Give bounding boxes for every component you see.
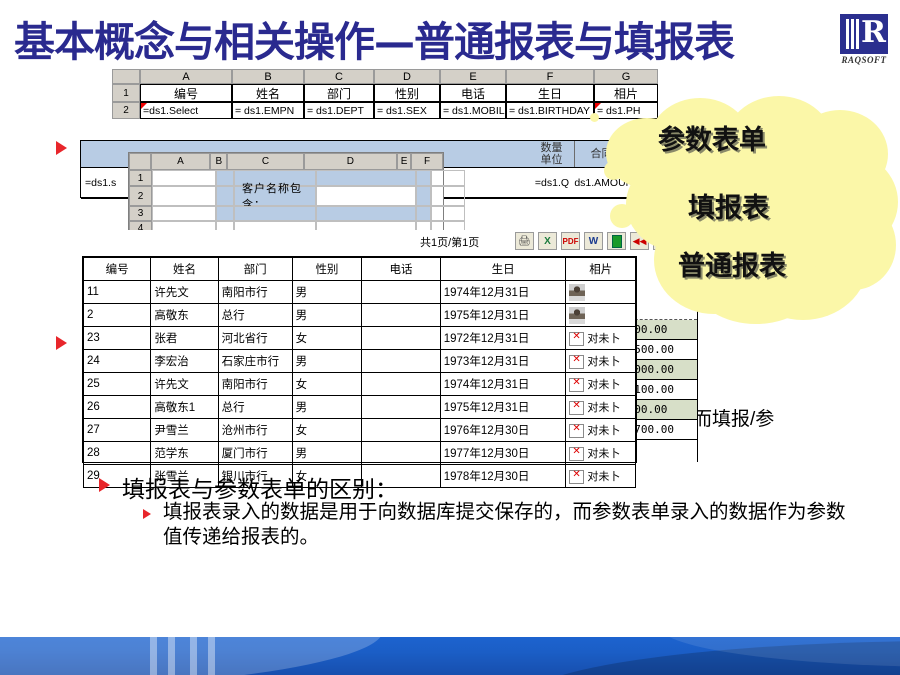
col-header-e[interactable]: E — [440, 69, 506, 84]
result-table-header-row: 编号 姓名 部门 性别 电话 生日 相片 — [84, 258, 636, 281]
designer-header-row: 1 编号 姓名 部门 性别 电话 生日 相片 — [112, 84, 658, 102]
col-phone: 电话 — [362, 258, 441, 281]
param-cell-a2[interactable] — [152, 186, 216, 206]
table-row: 11许先文南阳市行男1974年12月31日 — [84, 281, 636, 304]
cell-name: 张君 — [151, 327, 218, 350]
cell-e2[interactable]: = ds1.MOBIL — [440, 102, 506, 119]
broken-image-label: 对未卜 — [587, 402, 620, 414]
cell-note-flag-icon — [141, 103, 147, 109]
cell-dept: 总行 — [218, 396, 292, 419]
result-table-body: 11许先文南阳市行男1974年12月31日2高敬东总行男1975年12月31日2… — [84, 281, 636, 488]
bullet-marker-2 — [56, 336, 67, 350]
table-row: 26高敬东1总行男1975年12月31日对未卜 — [84, 396, 636, 419]
col-header-b[interactable]: B — [232, 69, 304, 84]
slide-canvas: 基本概念与相关操作—普通报表与填报表 R RAQSOFT A B C D E F… — [0, 0, 900, 675]
parameter-form-designer[interactable]: A B C D E F 1 2 客户名称包含： 3 — [128, 152, 444, 234]
cell-photo: 对未卜 — [566, 350, 636, 373]
report-toolbar: 共1页/第1页 🖨 X PDF W ◀◀ ◀ — [80, 230, 640, 254]
cell-photo: 对未卜 — [566, 327, 636, 350]
footer-stripe-4 — [208, 637, 215, 675]
broken-image-icon — [569, 470, 584, 484]
cell-name: 高敬东1 — [151, 396, 218, 419]
param-col-e[interactable]: E — [397, 153, 411, 170]
bullet-marker-4 — [143, 509, 151, 519]
param-col-b[interactable]: B — [210, 153, 227, 170]
corner-cell — [112, 69, 140, 84]
cell-birthday: 1973年12月31日 — [440, 350, 566, 373]
bullet-marker-3 — [99, 478, 110, 492]
cell-dept: 厦门市行 — [218, 442, 292, 465]
pdf-icon[interactable]: PDF — [561, 232, 580, 250]
footer-stripe-1 — [150, 637, 157, 675]
cloud-label-parameter-form: 参数表单 — [658, 118, 766, 157]
cell-photo: 对未卜 — [566, 419, 636, 442]
designer-spreadsheet[interactable]: A B C D E F G 1 编号 姓名 部门 性别 电话 生日 相片 2 =… — [112, 69, 658, 119]
cell-sex: 男 — [292, 281, 362, 304]
cell-note-flag-icon-2 — [595, 103, 601, 109]
cell-id: 28 — [84, 442, 151, 465]
cell-photo — [566, 304, 636, 327]
formula-ds1-q[interactable]: =ds1.Q — [529, 168, 575, 198]
cell-birthday: 1974年12月31日 — [440, 281, 566, 304]
cell-photo: 对未卜 — [566, 465, 636, 488]
param-col-a[interactable]: A — [151, 153, 211, 170]
footer-decoration — [0, 637, 900, 675]
cell-phone — [362, 327, 441, 350]
cell-id: 26 — [84, 396, 151, 419]
param-row-2: 2 客户名称包含： — [129, 186, 465, 206]
result-table-element: 编号 姓名 部门 性别 电话 生日 相片 11许先文南阳市行男1974年12月3… — [83, 257, 636, 488]
cell-id: 2 — [84, 304, 151, 327]
cell-sex: 女 — [292, 327, 362, 350]
cell-id: 25 — [84, 373, 151, 396]
cell-dept: 南阳市行 — [218, 373, 292, 396]
cell-dept: 河北省行 — [218, 327, 292, 350]
param-cell-f1[interactable] — [431, 170, 465, 186]
report-result-table: 编号 姓名 部门 性别 电话 生日 相片 11许先文南阳市行男1974年12月3… — [82, 256, 637, 463]
param-label-customer-name: 客户名称包含： — [234, 186, 316, 206]
param-cell-b1[interactable] — [216, 170, 234, 186]
cell-g1[interactable]: 相片 — [594, 84, 658, 102]
cell-phone — [362, 396, 441, 419]
param-col-c[interactable]: C — [227, 153, 304, 170]
col-header-d[interactable]: D — [374, 69, 440, 84]
row-number-2[interactable]: 2 — [112, 102, 140, 119]
cell-g2-text: = ds1.PH — [597, 105, 640, 117]
page-title: 基本概念与相关操作—普通报表与填报表 — [14, 16, 834, 68]
bullet-marker-1 — [56, 141, 67, 155]
table-row: 25许先文南阳市行女1974年12月31日对未卜 — [84, 373, 636, 396]
cell-a2[interactable]: =ds1.Select — [140, 102, 232, 119]
cell-e1[interactable]: 电话 — [440, 84, 506, 102]
cell-id: 27 — [84, 419, 151, 442]
cell-b2[interactable]: = ds1.EMPN — [232, 102, 304, 119]
cell-id: 24 — [84, 350, 151, 373]
cell-name: 李宏治 — [151, 350, 218, 373]
cell-birthday: 1975年12月31日 — [440, 304, 566, 327]
param-row-number-1[interactable]: 1 — [129, 170, 152, 186]
col-header-g[interactable]: G — [594, 69, 658, 84]
col-header-c[interactable]: C — [304, 69, 374, 84]
col-id: 编号 — [84, 258, 151, 281]
param-row-3: 3 — [129, 206, 465, 221]
cell-f1[interactable]: 生日 — [506, 84, 594, 102]
col-sex: 性别 — [292, 258, 362, 281]
param-corner-cell — [129, 153, 151, 170]
broken-image-label: 对未卜 — [587, 356, 620, 368]
logo-letter: R — [861, 18, 886, 48]
cell-sex: 男 — [292, 304, 362, 327]
cell-birthday: 1972年12月31日 — [440, 327, 566, 350]
cloud-bubble-5 — [590, 113, 599, 122]
cell-phone — [362, 350, 441, 373]
photo-thumbnail-icon — [569, 307, 585, 324]
col-header-a[interactable]: A — [140, 69, 232, 84]
cell-name: 尹雪兰 — [151, 419, 218, 442]
cell-photo: 对未卜 — [566, 442, 636, 465]
col-photo: 相片 — [566, 258, 636, 281]
header-qty-unit: 数量单位 — [529, 141, 575, 167]
cell-d2[interactable]: = ds1.SEX — [374, 102, 440, 119]
cell-name: 许先文 — [151, 373, 218, 396]
designer-formula-row: 2 =ds1.Select = ds1.EMPN = ds1.DEPT = ds… — [112, 102, 658, 119]
cell-c1[interactable]: 部门 — [304, 84, 374, 102]
table-row: 27尹雪兰沧州市行女1976年12月30日对未卜 — [84, 419, 636, 442]
cell-birthday: 1978年12月30日 — [440, 465, 566, 488]
broken-image-icon — [569, 401, 584, 415]
report-toolbar-icons: 🖨 X PDF W ◀◀ ◀ — [515, 232, 672, 250]
param-col-d[interactable]: D — [304, 153, 397, 170]
param-cell-d3[interactable] — [316, 206, 416, 221]
cell-phone — [362, 281, 441, 304]
param-cell-c3[interactable] — [234, 206, 316, 221]
broken-image-label: 对未卜 — [587, 333, 620, 345]
cell-c2[interactable]: = ds1.DEPT — [304, 102, 374, 119]
cell-id: 11 — [84, 281, 151, 304]
designer-column-header-row: A B C D E F G — [112, 69, 658, 84]
param-cell-f3[interactable] — [431, 206, 465, 221]
param-input-customer-name[interactable] — [316, 186, 416, 206]
cell-photo — [566, 281, 636, 304]
footer-stripe-2 — [168, 637, 175, 675]
cell-phone — [362, 373, 441, 396]
cloud-bubble-4 — [648, 140, 659, 151]
cell-birthday: 1974年12月31日 — [440, 373, 566, 396]
logo-bars-icon — [846, 19, 859, 49]
row-number-1[interactable]: 1 — [112, 84, 140, 102]
table-row: 23张君河北省行女1972年12月31日对未卜 — [84, 327, 636, 350]
cell-sex: 男 — [292, 442, 362, 465]
param-column-header-row: A B C D E F — [129, 153, 443, 170]
cell-name: 许先文 — [151, 281, 218, 304]
cell-dept: 总行 — [218, 304, 292, 327]
photo-thumbnail-icon — [569, 284, 585, 301]
cloud-label-fill-report: 填报表 — [688, 186, 769, 225]
table-row: 24李宏治石家庄市行男1973年12月31日对未卜 — [84, 350, 636, 373]
broken-image-label: 对未卜 — [587, 448, 620, 460]
broken-image-icon — [569, 355, 584, 369]
cell-phone — [362, 304, 441, 327]
cell-f2[interactable]: = ds1.BIRTHDAY — [506, 102, 594, 119]
cell-b1[interactable]: 姓名 — [232, 84, 304, 102]
table-row: 2高敬东总行男1975年12月31日 — [84, 304, 636, 327]
cell-phone — [362, 419, 441, 442]
cloud-label-normal-report: 普通报表 — [678, 244, 786, 283]
cell-birthday: 1977年12月30日 — [440, 442, 566, 465]
first-page-icon[interactable]: ◀◀ — [630, 232, 649, 250]
cell-d1[interactable]: 性别 — [374, 84, 440, 102]
cell-name: 高敬东 — [151, 304, 218, 327]
param-cell-d1[interactable] — [316, 170, 416, 186]
broken-image-icon — [569, 447, 584, 461]
cell-photo: 对未卜 — [566, 373, 636, 396]
cell-sex: 男 — [292, 350, 362, 373]
cell-sex: 男 — [292, 396, 362, 419]
col-birthday: 生日 — [440, 258, 566, 281]
cell-id: 23 — [84, 327, 151, 350]
param-cell-a1[interactable] — [152, 170, 216, 186]
footer-stripe-3 — [190, 637, 197, 675]
param-col-f[interactable]: F — [411, 153, 443, 170]
broken-image-label: 对未卜 — [587, 471, 620, 483]
page-info-label: 共1页/第1页 — [420, 234, 479, 250]
cell-dept: 沧州市行 — [218, 419, 292, 442]
cell-sex: 女 — [292, 419, 362, 442]
prev-page-icon[interactable]: ◀ — [653, 232, 672, 250]
cell-sex: 女 — [292, 373, 362, 396]
print-icon[interactable]: 🖨 — [515, 232, 534, 250]
cloud-bubble-3 — [672, 197, 690, 215]
param-row-number-2[interactable]: 2 — [129, 186, 152, 206]
param-cell-b3[interactable] — [216, 206, 234, 221]
cell-a2-text: =ds1.Select — [143, 105, 198, 117]
col-dept: 部门 — [218, 258, 292, 281]
param-cell-e2[interactable] — [416, 186, 431, 206]
param-cell-e1[interactable] — [416, 170, 431, 186]
cell-dept: 南阳市行 — [218, 281, 292, 304]
cloud-bubble-2 — [610, 204, 634, 228]
body-bullet-2: 填报表录入的数据是用于向数据库提交保存的，而参数表单录入的数据作为参数值传递给报… — [163, 500, 853, 550]
col-name: 姓名 — [151, 258, 218, 281]
broken-image-icon — [569, 424, 584, 438]
cell-photo: 对未卜 — [566, 396, 636, 419]
raqsoft-logo: R RAQSOFT — [838, 14, 890, 70]
param-cell-b2[interactable] — [216, 186, 234, 206]
cloud-bubble-1 — [604, 161, 623, 180]
col-header-f[interactable]: F — [506, 69, 594, 84]
broken-image-label: 对未卜 — [587, 379, 620, 391]
cell-g2[interactable]: = ds1.PH — [594, 102, 658, 119]
word-icon[interactable]: W — [584, 232, 603, 250]
excel-icon[interactable]: X — [538, 232, 557, 250]
broken-image-label: 对未卜 — [587, 425, 620, 437]
cell-birthday: 1975年12月31日 — [440, 396, 566, 419]
cloud-callout: 参数表单 填报表 普通报表 — [596, 96, 900, 326]
cell-name: 范学东 — [151, 442, 218, 465]
cell-phone — [362, 442, 441, 465]
cell-dept: 石家庄市行 — [218, 350, 292, 373]
export-icon[interactable] — [607, 232, 626, 250]
cell-birthday: 1976年12月30日 — [440, 419, 566, 442]
logo-mark-icon: R — [840, 14, 888, 54]
table-row: 28范学东厦门市行男1977年12月30日对未卜 — [84, 442, 636, 465]
logo-wordmark: RAQSOFT — [838, 55, 890, 66]
param-cell-a3[interactable] — [152, 206, 216, 221]
param-row-number-3[interactable]: 3 — [129, 206, 152, 221]
cell-a1[interactable]: 编号 — [140, 84, 232, 102]
broken-image-icon — [569, 332, 584, 346]
param-cell-e3[interactable] — [416, 206, 431, 221]
broken-image-icon — [569, 378, 584, 392]
body-bullet-1: 填报表与参数表单的区别： — [122, 470, 398, 504]
param-cell-f2[interactable] — [431, 186, 465, 206]
